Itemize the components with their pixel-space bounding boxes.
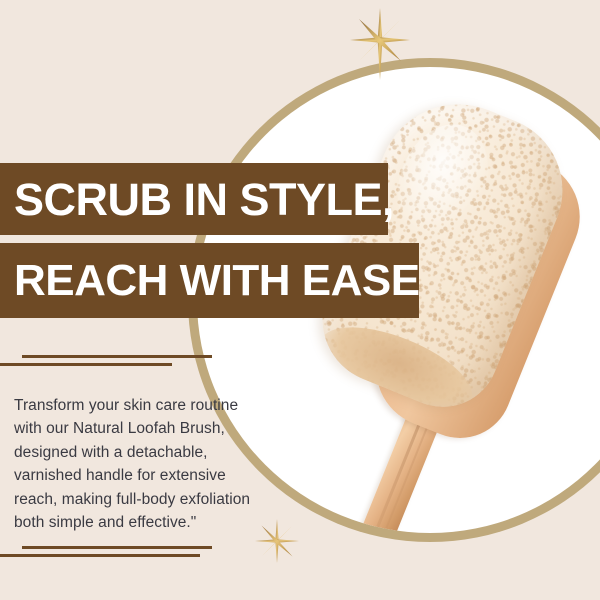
promo-canvas: SCRUB IN STYLE, REACH WITH EASE Transfor… [0, 0, 600, 600]
headline-line-2: REACH WITH EASE [14, 259, 420, 303]
headline-banner-2: REACH WITH EASE [0, 243, 419, 318]
body-paragraph: Transform your skin care routine with ou… [14, 394, 254, 535]
divider-line [22, 355, 212, 358]
divider-line [22, 546, 212, 549]
divider-line [0, 554, 200, 557]
divider-line [0, 363, 172, 366]
sparkle-icon [346, 6, 414, 80]
headline-banner-1: SCRUB IN STYLE, [0, 163, 388, 235]
divider-bottom [0, 546, 230, 562]
sparkle-icon [254, 518, 300, 564]
divider-top [0, 355, 230, 371]
headline-line-1: SCRUB IN STYLE, [14, 177, 394, 222]
